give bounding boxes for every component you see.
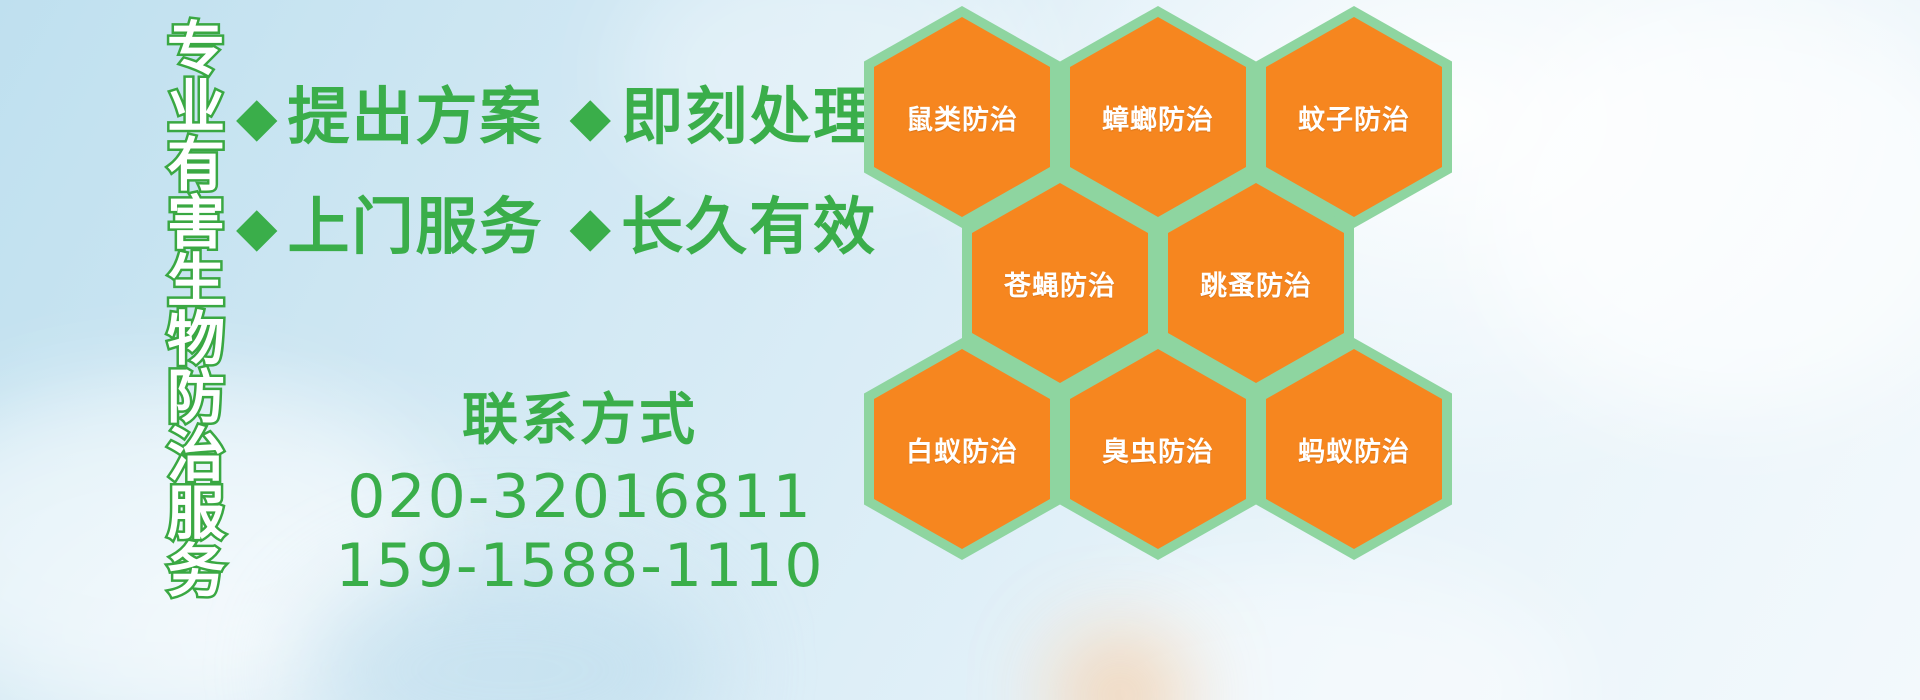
hex-label: 蚂蚁防治 <box>1298 430 1410 469</box>
feature-label-onsite-service: 上门服务 <box>288 196 544 258</box>
contact-heading: 联系方式 <box>300 392 860 451</box>
diamond-bullet-icon: ◆ <box>570 90 612 144</box>
hex-label: 蟑螂防治 <box>1102 98 1214 137</box>
feature-label-long-lasting: 长久有效 <box>621 196 877 258</box>
hex-label: 蚊子防治 <box>1298 98 1410 137</box>
feature-row-2: ◆ 上门服务 ◆ 长久有效 <box>236 196 877 258</box>
hex-inner: 臭虫防治 <box>1070 349 1246 549</box>
hex-inner: 蚂蚁防治 <box>1266 349 1442 549</box>
hex-label: 跳蚤防治 <box>1200 264 1312 303</box>
hex-inner: 蚊子防治 <box>1266 17 1442 217</box>
feature-label-propose-plan: 提出方案 <box>288 86 544 148</box>
hex-label: 鼠类防治 <box>906 98 1018 137</box>
vertical-title: 专业有害生物防治服务 <box>108 18 220 598</box>
contact-block: 联系方式 020-32016811 159-1588-1110 <box>300 392 860 602</box>
hex-inner: 鼠类防治 <box>874 17 1050 217</box>
feature-row-1: ◆ 提出方案 ◆ 即刻处理 <box>236 86 877 148</box>
diamond-bullet-icon: ◆ <box>236 90 278 144</box>
hex-inner: 蟑螂防治 <box>1070 17 1246 217</box>
hex-label: 白蚁防治 <box>906 430 1018 469</box>
hex-label: 苍蝇防治 <box>1004 264 1116 303</box>
honeycomb-service-grid: 鼠类防治 蟑螂防治 蚊子防治 苍蝇防治 跳蚤防治 白蚁防治 <box>856 0 1476 700</box>
diamond-bullet-icon: ◆ <box>570 200 612 254</box>
hex-inner: 苍蝇防治 <box>972 183 1148 383</box>
hex-inner: 白蚁防治 <box>874 349 1050 549</box>
feature-label-immediate-handling: 即刻处理 <box>621 86 877 148</box>
phone-number-mobile[interactable]: 159-1588-1110 <box>300 532 860 602</box>
hex-label: 臭虫防治 <box>1102 430 1214 469</box>
phone-number-landline[interactable]: 020-32016811 <box>300 463 860 533</box>
background-blob <box>1480 0 1920 420</box>
hex-inner: 跳蚤防治 <box>1168 183 1344 383</box>
diamond-bullet-icon: ◆ <box>236 200 278 254</box>
promo-banner: 专业有害生物防治服务 ◆ 提出方案 ◆ 即刻处理 ◆ 上门服务 ◆ 长久有效 联… <box>0 0 1920 700</box>
